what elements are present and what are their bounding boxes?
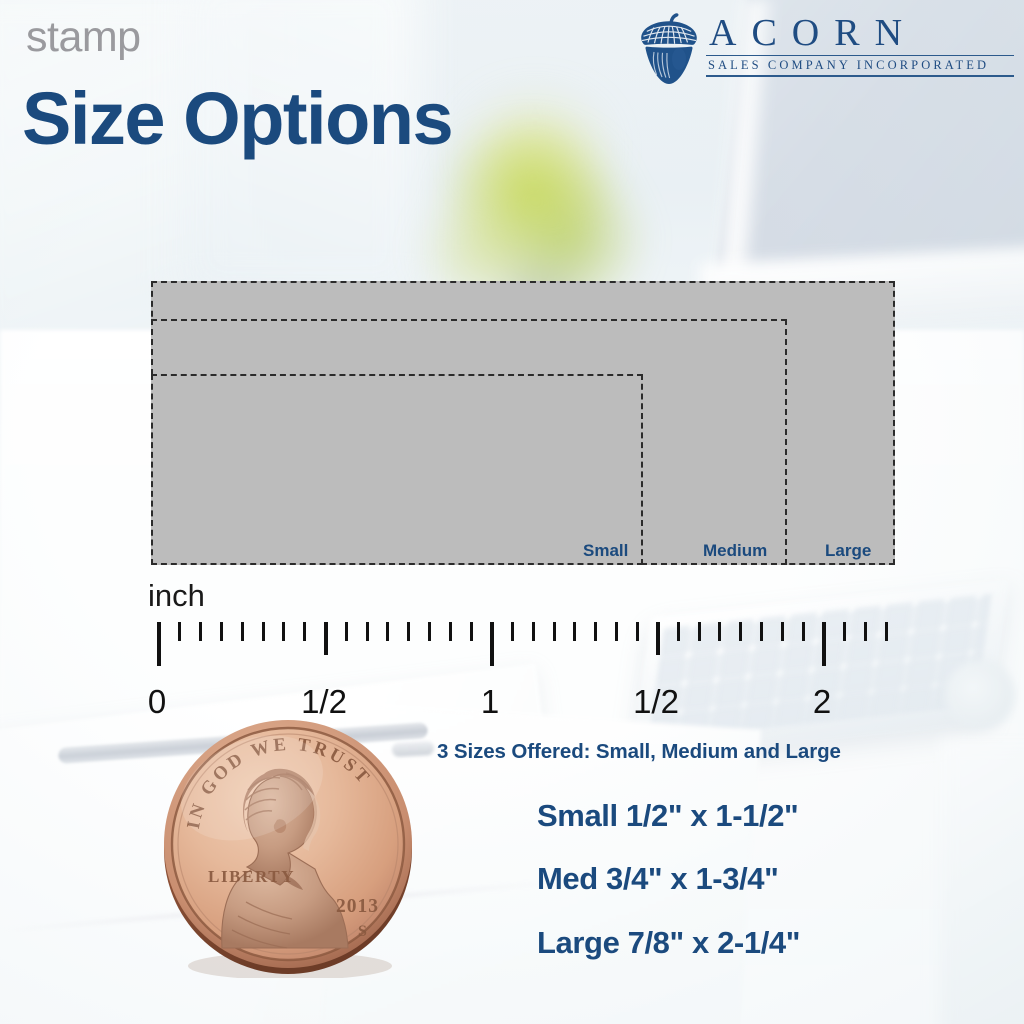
inch-ruler: inch 01/211/22 (0, 580, 1024, 740)
ruler-tick-minor (220, 622, 223, 641)
us-penny-image: IN GOD WE TRUST LIBERTY 2013 S (160, 716, 416, 978)
ruler-label-0: 0 (148, 685, 166, 718)
stamp-size-label-small: Small (583, 542, 628, 559)
ruler-label-3: 1/2 (633, 685, 679, 718)
ruler-tick-half (324, 622, 328, 655)
penny-mintmark: S (358, 923, 367, 940)
ruler-tick-minor (199, 622, 202, 641)
ruler-tick-minor (885, 622, 888, 641)
ruler-tick-minor (553, 622, 556, 641)
ruler-tick-minor (760, 622, 763, 641)
ruler-tick-major (157, 622, 161, 666)
ruler-unit-label: inch (148, 580, 205, 611)
ruler-tick-minor (262, 622, 265, 641)
ruler-tick-minor (532, 622, 535, 641)
ruler-label-2: 1 (481, 685, 499, 718)
ruler-label-4: 2 (813, 685, 831, 718)
ruler-tick-major (822, 622, 826, 666)
ruler-tick-minor (470, 622, 473, 641)
penny-year: 2013 (336, 896, 379, 917)
ruler-tick-minor (802, 622, 805, 641)
ruler-tick-minor (739, 622, 742, 641)
ruler-tick-minor (781, 622, 784, 641)
size-spec-medium: Med 3/4" x 1-3/4" (537, 861, 778, 897)
ruler-tick-minor (677, 622, 680, 641)
ruler-tick-minor (386, 622, 389, 641)
stamp-size-rect-small (151, 374, 643, 565)
ruler-tick-minor (864, 622, 867, 641)
ruler-tick-minor (366, 622, 369, 641)
ruler-tick-minor (241, 622, 244, 641)
size-spec-small: Small 1/2" x 1-1/2" (537, 798, 798, 834)
ruler-tick-minor (843, 622, 846, 641)
ruler-tick-minor (511, 622, 514, 641)
size-spec-large: Large 7/8" x 2-1/4" (537, 925, 800, 961)
stamp-size-label-large: Large (825, 542, 871, 559)
ruler-label-1: 1/2 (301, 685, 347, 718)
ruler-tick-half (656, 622, 660, 655)
ruler-tick-minor (282, 622, 285, 641)
sizes-offered-summary: 3 Sizes Offered: Small, Medium and Large (437, 740, 841, 764)
ruler-tick-minor (718, 622, 721, 641)
ruler-tick-minor (636, 622, 639, 641)
ruler-tick-minor (428, 622, 431, 641)
ruler-tick-minor (407, 622, 410, 641)
ruler-tick-minor (698, 622, 701, 641)
ruler-tick-minor (615, 622, 618, 641)
ruler-tick-minor (594, 622, 597, 641)
ruler-tick-minor (345, 622, 348, 641)
ruler-tick-minor (449, 622, 452, 641)
ruler-tick-minor (303, 622, 306, 641)
penny-liberty: LIBERTY (208, 867, 295, 886)
size-comparison-diagram: LargeMediumSmall (0, 0, 1024, 600)
ruler-tick-major (490, 622, 494, 666)
stamp-size-label-medium: Medium (703, 542, 767, 559)
ruler-tick-minor (573, 622, 576, 641)
ruler-tick-minor (178, 622, 181, 641)
